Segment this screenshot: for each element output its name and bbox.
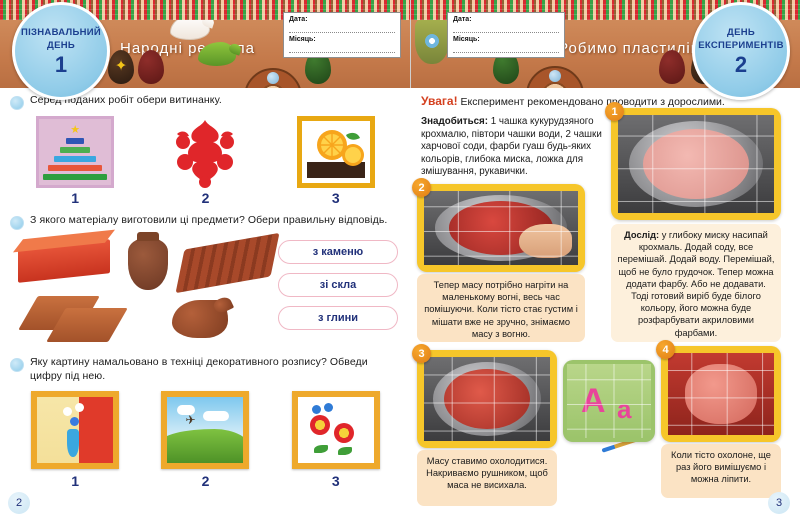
page-number-right: 3 xyxy=(768,492,790,514)
task-3-options: ✈ xyxy=(10,391,401,469)
letters-board-photo[interactable]: А а xyxy=(563,360,655,442)
clay-wreath xyxy=(526,66,584,88)
object-brick[interactable] xyxy=(18,239,110,283)
task-2-text: З якого матеріалу виготовили ці предмети… xyxy=(30,214,387,228)
step-1-image xyxy=(618,115,774,213)
step-4-photo[interactable] xyxy=(661,346,781,442)
step-3-image xyxy=(424,357,550,441)
task-1-options: ★ xyxy=(10,116,401,188)
pyramid-bar xyxy=(66,138,84,144)
bullet-icon xyxy=(10,96,24,110)
task-2-body: з каменю зі скла з глини xyxy=(10,234,401,354)
pyramid-bar xyxy=(60,147,90,153)
painting-petrykivka[interactable] xyxy=(292,391,380,469)
task-3-numbers: 1 2 3 xyxy=(10,473,401,489)
pyramid-bar xyxy=(43,174,107,180)
hill-shape xyxy=(161,429,249,463)
day-badge-line1: ПІЗНАВАЛЬНИЙ xyxy=(21,26,101,39)
task-1-numbers: 1 2 3 xyxy=(10,190,401,206)
day-badge-number: 2 xyxy=(701,53,781,77)
warning-label: Увага! xyxy=(421,94,458,108)
painting-landscape[interactable]: ✈ xyxy=(161,391,249,469)
task-1: Серед поданих робіт обери витинанку. ★ xyxy=(0,88,411,206)
painting-number-3[interactable]: 3 xyxy=(296,473,376,489)
month-label: Місяць: xyxy=(289,36,395,43)
task-3: Яку картину намальовано в техніці декора… xyxy=(0,354,411,489)
option-number-3[interactable]: 3 xyxy=(296,190,376,206)
swallow-icon: ✈ xyxy=(185,415,195,425)
painting-still-life[interactable] xyxy=(31,391,119,469)
object-roof-tiles[interactable] xyxy=(176,233,280,293)
step-badge-4: 4 xyxy=(656,340,675,359)
orange-fruit-icon xyxy=(308,127,370,171)
bullet-icon xyxy=(10,216,24,230)
option-vytynanka-papercut[interactable] xyxy=(166,116,244,188)
option-orange-picture[interactable] xyxy=(297,116,375,188)
curtain-shape xyxy=(79,397,113,463)
red-flower xyxy=(310,415,330,435)
step-badge-3: 3 xyxy=(412,344,431,363)
object-clay-pot[interactable] xyxy=(128,238,168,290)
step-3-caption: Масу ставимо охолодитися. Накриваємо руш… xyxy=(417,450,557,506)
step-2-photo[interactable] xyxy=(417,184,585,272)
painting-number-1[interactable]: 1 xyxy=(35,473,115,489)
red-flower xyxy=(334,423,354,443)
step-1-photo[interactable] xyxy=(611,108,781,220)
day-badge-number: 1 xyxy=(21,53,101,77)
vytynanka-icon xyxy=(169,116,241,188)
task-3-text: Яку картину намальовано в техніці декора… xyxy=(30,356,401,383)
day-badge-line2: ДЕНЬ xyxy=(47,39,75,52)
blue-flower xyxy=(70,417,79,426)
date-box-right[interactable]: Дата: Місяць: xyxy=(447,12,565,58)
task-2: З якого матеріалу виготовили ці предмети… xyxy=(0,206,411,354)
star-motif-icon: ✦ xyxy=(115,58,128,73)
day-badge-right: ДЕНЬ ЕКСПЕРИМЕНТІВ 2 xyxy=(692,2,790,100)
green-leaf xyxy=(314,445,328,453)
date-box-left[interactable]: Дата: Місяць: xyxy=(283,12,401,58)
step-4-caption: Коли тісто охолоне, ще раз його вимішуєм… xyxy=(661,444,781,498)
step-3-photo[interactable] xyxy=(417,350,557,448)
experiment-text: у глибоку миску насипай крохмаль. Додай … xyxy=(618,230,775,338)
step-badge-1: 1 xyxy=(605,102,624,121)
star-icon: ★ xyxy=(70,126,80,135)
painting-number-2[interactable]: 2 xyxy=(165,473,245,489)
pysanka-egg-black: ✦ xyxy=(108,50,134,84)
step-badge-2: 2 xyxy=(412,178,431,197)
jug-flower-motif xyxy=(425,34,439,48)
blue-vase xyxy=(67,429,79,457)
bullet-icon xyxy=(10,358,24,372)
date-input-line[interactable] xyxy=(289,24,395,33)
photo-grid-overlay xyxy=(618,115,774,213)
ceramic-bird-white xyxy=(170,20,210,40)
pyramid-bar xyxy=(54,156,96,162)
answer-option-stone[interactable]: з каменю xyxy=(278,240,398,264)
page-number-left: 2 xyxy=(8,492,30,514)
option-pyramid-collage[interactable]: ★ xyxy=(36,116,114,188)
wreath-dot xyxy=(549,70,561,82)
photo-grid-overlay xyxy=(668,353,774,435)
workbook-spread: Народні ремесла ✦ Дата: Місяць: ПІЗНАВАЛ… xyxy=(0,0,800,520)
task-2-answers: з каменю зі скла з глини xyxy=(278,234,398,354)
wreath-dot xyxy=(267,72,279,84)
blue-bud xyxy=(324,403,333,412)
daisy-flower xyxy=(63,407,72,416)
experiment-label: Дослід: xyxy=(624,230,659,240)
left-page: Народні ремесла ✦ Дата: Місяць: ПІЗНАВАЛ… xyxy=(0,0,411,520)
answer-option-glass[interactable]: зі скла xyxy=(278,273,398,297)
month-label: Місяць: xyxy=(453,36,559,43)
step-4-image xyxy=(668,353,774,435)
month-input-line[interactable] xyxy=(453,44,559,53)
experiment-text-block: Дослід: у глибоку миску насипай крохмаль… xyxy=(611,224,781,342)
task-2-question: З якого матеріалу виготовили ці предмети… xyxy=(10,214,401,230)
day-badge-left: ПІЗНАВАЛЬНИЙ ДЕНЬ 1 xyxy=(12,2,110,100)
step-2-image xyxy=(424,191,578,265)
clay-jug xyxy=(415,20,449,64)
option-number-1[interactable]: 1 xyxy=(35,190,115,206)
ingredients-label: Знадобиться: xyxy=(421,116,488,127)
photo-grid-overlay xyxy=(424,357,550,441)
photo-grid-overlay xyxy=(424,191,578,265)
step-2-caption: Тепер масу потрібно нагріти на маленьком… xyxy=(417,274,585,342)
blue-bud xyxy=(312,405,321,414)
option-number-2[interactable]: 2 xyxy=(165,190,245,206)
object-clay-bird-whistle[interactable] xyxy=(172,300,228,338)
task-2-objects xyxy=(10,234,278,354)
day-badge-line1: ДЕНЬ xyxy=(727,26,755,39)
right-page-content: Увага! Експеримент рекомендовано проводи… xyxy=(411,88,800,520)
photo-grid-overlay xyxy=(567,364,651,438)
ingredients-block: Знадобиться: 1 чашка кукурудзяного крохм… xyxy=(421,116,617,179)
pysanka-egg-dark xyxy=(659,50,685,84)
date-input-line[interactable] xyxy=(453,24,559,33)
month-input-line[interactable] xyxy=(289,44,395,53)
day-badge-line2: ЕКСПЕРИМЕНТІВ xyxy=(698,39,784,52)
green-leaf xyxy=(338,447,352,455)
cloud-shape xyxy=(203,411,229,421)
warning-text: Експеримент рекомендовано проводити з до… xyxy=(461,96,725,108)
clay-wreath xyxy=(244,68,302,88)
date-label: Дата: xyxy=(453,16,559,23)
right-page: Робимо пластилін ✦ Дата: Місяць: ДЕНЬ ЕК… xyxy=(411,0,800,520)
letters-board-image: А а xyxy=(567,364,651,438)
task-3-question: Яку картину намальовано в техніці декора… xyxy=(10,356,401,383)
answer-option-clay[interactable]: з глини xyxy=(278,306,398,330)
pyramid-bar xyxy=(48,165,102,171)
pysanka-egg-dark xyxy=(138,50,164,84)
date-label: Дата: xyxy=(289,16,395,23)
left-page-content: Серед поданих робіт обери витинанку. ★ xyxy=(0,88,411,520)
